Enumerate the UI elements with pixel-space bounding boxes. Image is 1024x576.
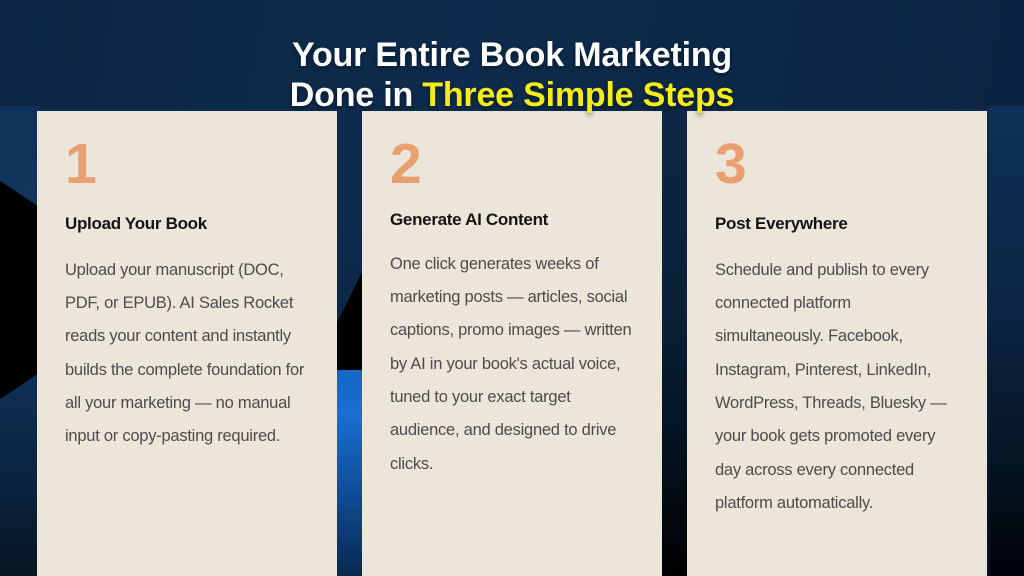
step-title-1: Upload Your Book <box>65 214 309 234</box>
step-body-3: Schedule and publish to every connected … <box>715 254 959 521</box>
step-number-3: 3 <box>715 141 959 188</box>
headline-line-2-prefix: Done in <box>290 76 423 114</box>
step-card-2: 2 Generate AI Content One click generate… <box>362 111 662 576</box>
slide-canvas: Your Entire Book Marketing Done in Three… <box>0 0 1024 576</box>
background-right-band <box>990 106 1024 576</box>
step-card-1: 1 Upload Your Book Upload your manuscrip… <box>37 111 337 576</box>
headline-line-2: Done in Three Simple Steps <box>0 75 1024 115</box>
step-title-3: Post Everywhere <box>715 214 959 234</box>
step-card-3: 3 Post Everywhere Schedule and publish t… <box>687 111 987 576</box>
step-number-2: 2 <box>390 141 634 188</box>
headline-accent-text: Three Simple Steps <box>422 76 734 114</box>
headline-line-1: Your Entire Book Marketing <box>0 35 1024 75</box>
step-body-1: Upload your manuscript (DOC, PDF, or EPU… <box>65 254 309 454</box>
step-number-1: 1 <box>65 141 309 188</box>
steps-card-group: 1 Upload Your Book Upload your manuscrip… <box>37 111 987 576</box>
page-title: Your Entire Book Marketing Done in Three… <box>0 35 1024 115</box>
step-body-2: One click generates weeks of marketing p… <box>390 248 634 481</box>
step-title-2: Generate AI Content <box>390 210 634 230</box>
